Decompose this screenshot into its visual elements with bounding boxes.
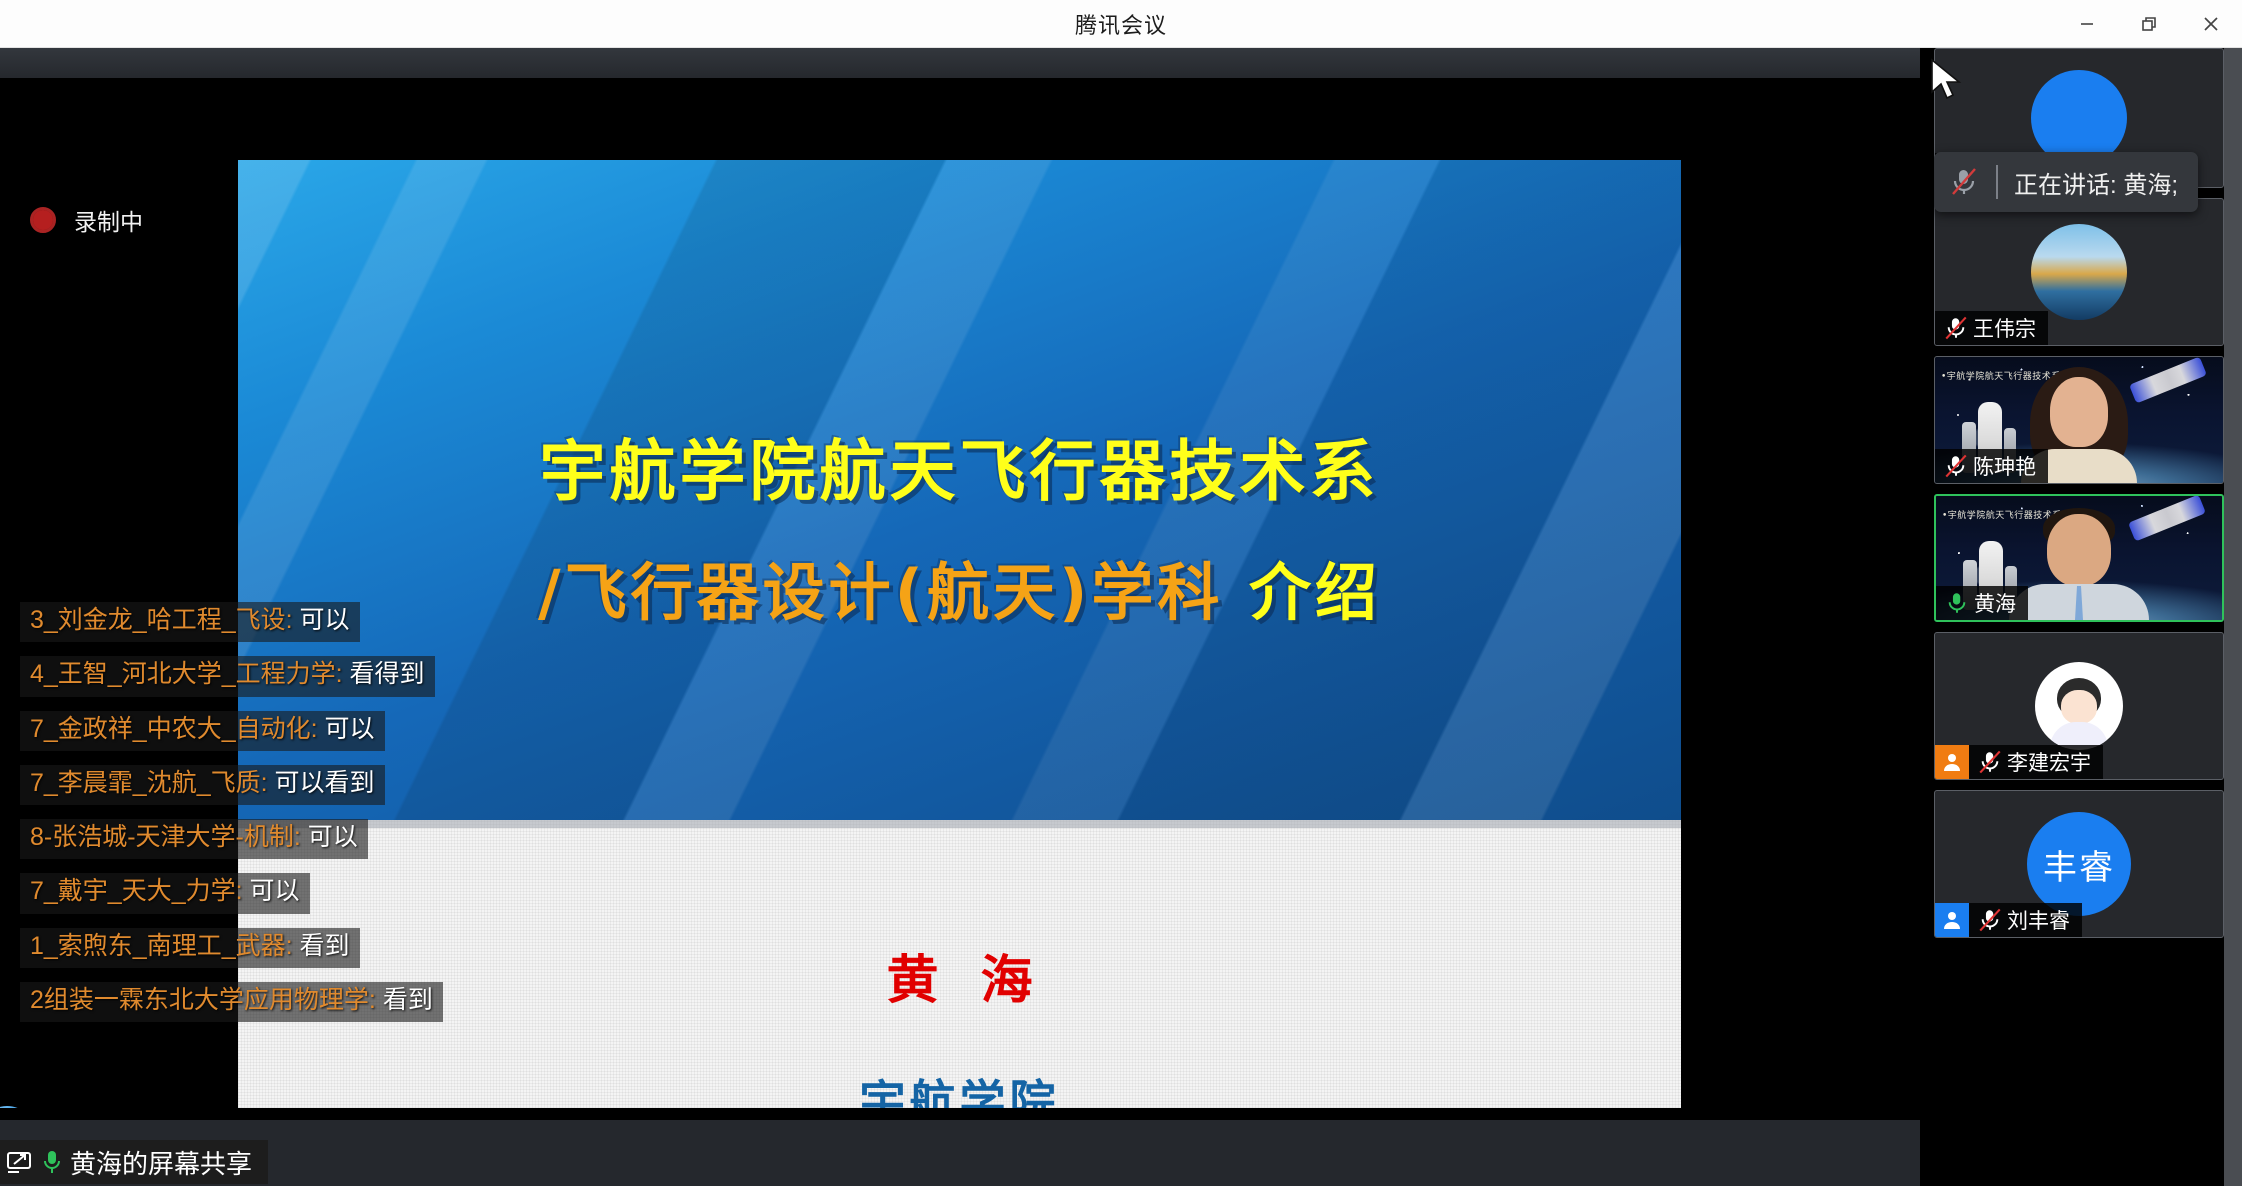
shared-content-stage: 宇航学院航天飞行器技术系 /飞行器设计(航天)学科 介绍 黄海 宇航学院 录制中… — [0, 78, 1920, 1108]
screen-share-label: 黄海的屏幕共享 — [70, 1144, 252, 1181]
slide-title-line2-main: /飞行器设计(航天)学科 — [538, 556, 1223, 629]
bottom-bar — [0, 1120, 1920, 1186]
participant-mic-status — [1975, 745, 2005, 779]
tooltip-divider — [1996, 165, 1998, 199]
participant-tile[interactable]: 王伟宗 — [1934, 198, 2224, 346]
participant-mic-status — [1941, 311, 1971, 345]
participant-tile[interactable]: 丰睿 刘丰睿 — [1934, 790, 2224, 938]
participant-name: 黄海 — [1972, 588, 2016, 618]
participant-tile[interactable]: •宇航学院航天飞行器技术系夏令营 黄海 — [1934, 494, 2224, 622]
mic-muted-icon — [1943, 452, 1969, 480]
avatar — [2031, 224, 2127, 320]
participant-name: 陈珅艳 — [1971, 451, 2036, 481]
recording-indicator: 录制中 — [30, 203, 143, 237]
chat-message-text: 看到 — [300, 932, 350, 960]
close-button[interactable] — [2180, 0, 2242, 48]
participant-name: 李建宏宇 — [2005, 747, 2091, 777]
chat-message: 2组装一霖东北大学应用物理学: 看到 — [20, 982, 443, 1022]
chat-message-sender: 1_索煦东_南理工_武器: — [30, 932, 293, 960]
chat-message-sender: 7_李晨霏_沈航_飞质: — [30, 769, 268, 797]
user-icon — [1942, 910, 1962, 930]
chat-message-text: 可以 — [325, 715, 375, 743]
screen-share-indicator: 黄海的屏幕共享 — [0, 1140, 268, 1184]
speaking-tooltip-text: 正在讲话: 黄海; — [2014, 165, 2178, 200]
participant-mic-status — [1975, 903, 2005, 937]
mic-on-icon — [1944, 589, 1970, 617]
chat-message: 7_李晨霏_沈航_飞质: 可以看到 — [20, 765, 385, 805]
chat-message-sender: 7_戴宇_天大_力学: — [30, 877, 243, 905]
participant-nameplate: 陈珅艳 — [1935, 449, 2048, 483]
recording-label: 录制中 — [74, 203, 143, 237]
chat-message-sender: 3_刘金龙_哈工程_飞设: — [30, 606, 293, 634]
participant-tile[interactable]: 李建宏宇 — [1934, 632, 2224, 780]
participant-role-badge — [1935, 745, 1969, 779]
chat-message: 4_王智_河北大学_工程力学: 看得到 — [20, 656, 435, 696]
participant-mic-status — [1941, 449, 1971, 483]
window-titlebar: 腾讯会议 — [0, 0, 2242, 48]
mic-muted-icon — [1943, 314, 1969, 342]
mic-muted-icon — [1977, 906, 2003, 934]
chat-message: 3_刘金龙_哈工程_飞设: 可以 — [20, 602, 360, 642]
slide-title-line2: /飞行器设计(航天)学科 介绍 — [238, 542, 1681, 632]
chat-message-sender: 4_王智_河北大学_工程力学: — [30, 660, 343, 688]
participant-nameplate: 李建宏宇 — [1935, 745, 2103, 779]
chat-message-text: 可以 — [300, 606, 350, 634]
screen-share-icon — [6, 1149, 34, 1175]
chat-message: 8-张浩城-天津大学-机制: 可以 — [20, 819, 368, 859]
participant-mic-status — [1942, 586, 1972, 620]
chat-message-text: 看得到 — [350, 660, 425, 688]
mic-muted-icon — [1948, 165, 1980, 199]
participant-role-badge — [1935, 903, 1969, 937]
participant-name: 王伟宗 — [1971, 313, 2036, 343]
window-controls — [2056, 0, 2242, 48]
avatar: 丰睿 — [2027, 812, 2131, 916]
chat-message: 7_戴宇_天大_力学: 可以 — [20, 873, 310, 913]
slide-organization: 宇航学院 — [238, 1066, 1681, 1108]
participant-name: 刘丰睿 — [2005, 905, 2070, 935]
chat-message-text: 可以看到 — [275, 769, 375, 797]
avatar — [2035, 662, 2123, 750]
chat-message-sender: 7_金政祥_中农大_自动化: — [30, 715, 318, 743]
chat-message: 1_索煦东_南理工_武器: 看到 — [20, 928, 360, 968]
minimize-button[interactable] — [2056, 0, 2118, 48]
mic-on-icon — [42, 1148, 62, 1176]
speaking-tooltip: 正在讲话: 黄海; — [1934, 152, 2198, 212]
meeting-timer-bubble[interactable]: 2:10 — [0, 1106, 36, 1108]
participant-nameplate: 王伟宗 — [1935, 311, 2048, 345]
chat-message: 7_金政祥_中农大_自动化: 可以 — [20, 711, 385, 751]
meeting-window: 腾讯会议 宇航学院航天 — [0, 0, 2242, 1186]
participants-sidebar: 王林娟 王伟宗 •宇航学院航天飞行器技术系夏令营 陈珅艳 •宇航学院航天飞行器技… — [1920, 48, 2242, 1186]
record-dot-icon — [30, 207, 56, 233]
shared-slide: 宇航学院航天飞行器技术系 /飞行器设计(航天)学科 介绍 黄海 宇航学院 — [238, 160, 1681, 1108]
participant-tile[interactable]: •宇航学院航天飞行器技术系夏令营 陈珅艳 — [1934, 356, 2224, 484]
slide-presenter-name: 黄海 — [238, 938, 1681, 1013]
chat-overlay: 3_刘金龙_哈工程_飞设: 可以4_王智_河北大学_工程力学: 看得到7_金政祥… — [20, 602, 443, 1022]
participants-sidebar-inner: 王林娟 王伟宗 •宇航学院航天飞行器技术系夏令营 陈珅艳 •宇航学院航天飞行器技… — [1920, 48, 2224, 1186]
chat-message-text: 看到 — [383, 986, 433, 1014]
mouse-cursor-icon — [1930, 58, 1964, 104]
chat-message-sender: 2组装一霖东北大学应用物理学: — [30, 986, 376, 1014]
user-icon — [1942, 752, 1962, 772]
chat-message-text: 可以 — [308, 823, 358, 851]
window-title: 腾讯会议 — [0, 0, 2242, 48]
chat-message-sender: 8-张浩城-天津大学-机制: — [30, 823, 301, 851]
participant-nameplate: 黄海 — [1936, 586, 2028, 620]
mic-muted-icon — [1977, 748, 2003, 776]
slide-title-line1: 宇航学院航天飞行器技术系 — [238, 418, 1681, 514]
chat-message-text: 可以 — [250, 877, 300, 905]
participant-nameplate: 刘丰睿 — [1935, 903, 2082, 937]
slide-title-line2-accent: 介绍 — [1249, 556, 1381, 629]
toolbar-strip — [0, 48, 1920, 78]
restore-button[interactable] — [2118, 0, 2180, 48]
